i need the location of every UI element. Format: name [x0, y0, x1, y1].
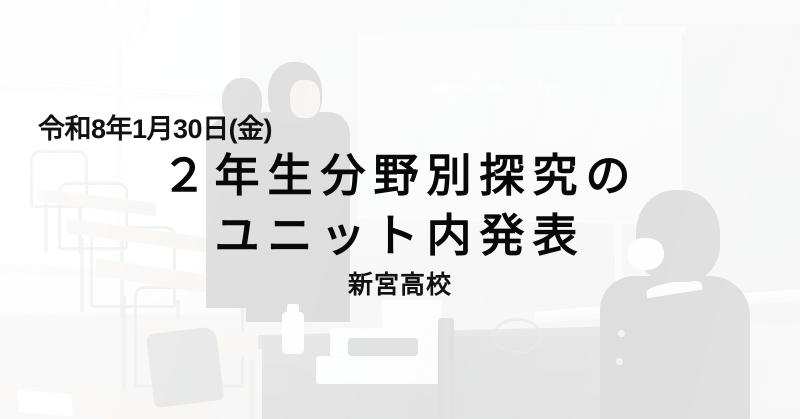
- title-line-2: ユニット内発表: [0, 206, 800, 266]
- school-name: 新宮高校: [0, 265, 800, 301]
- text-overlay: 令和8年1月30日(金) ２年生分野別探究の ユニット内発表 新宮高校: [0, 0, 800, 419]
- title-line-1: ２年生分野別探究の: [0, 146, 800, 206]
- page-title: ２年生分野別探究の ユニット内発表: [0, 146, 800, 266]
- banner-thumbnail: ユニットFグループ① 投資で月20万円稼ぐにはどうすれば よいか: [0, 0, 800, 419]
- event-date: 令和8年1月30日(金): [38, 107, 272, 146]
